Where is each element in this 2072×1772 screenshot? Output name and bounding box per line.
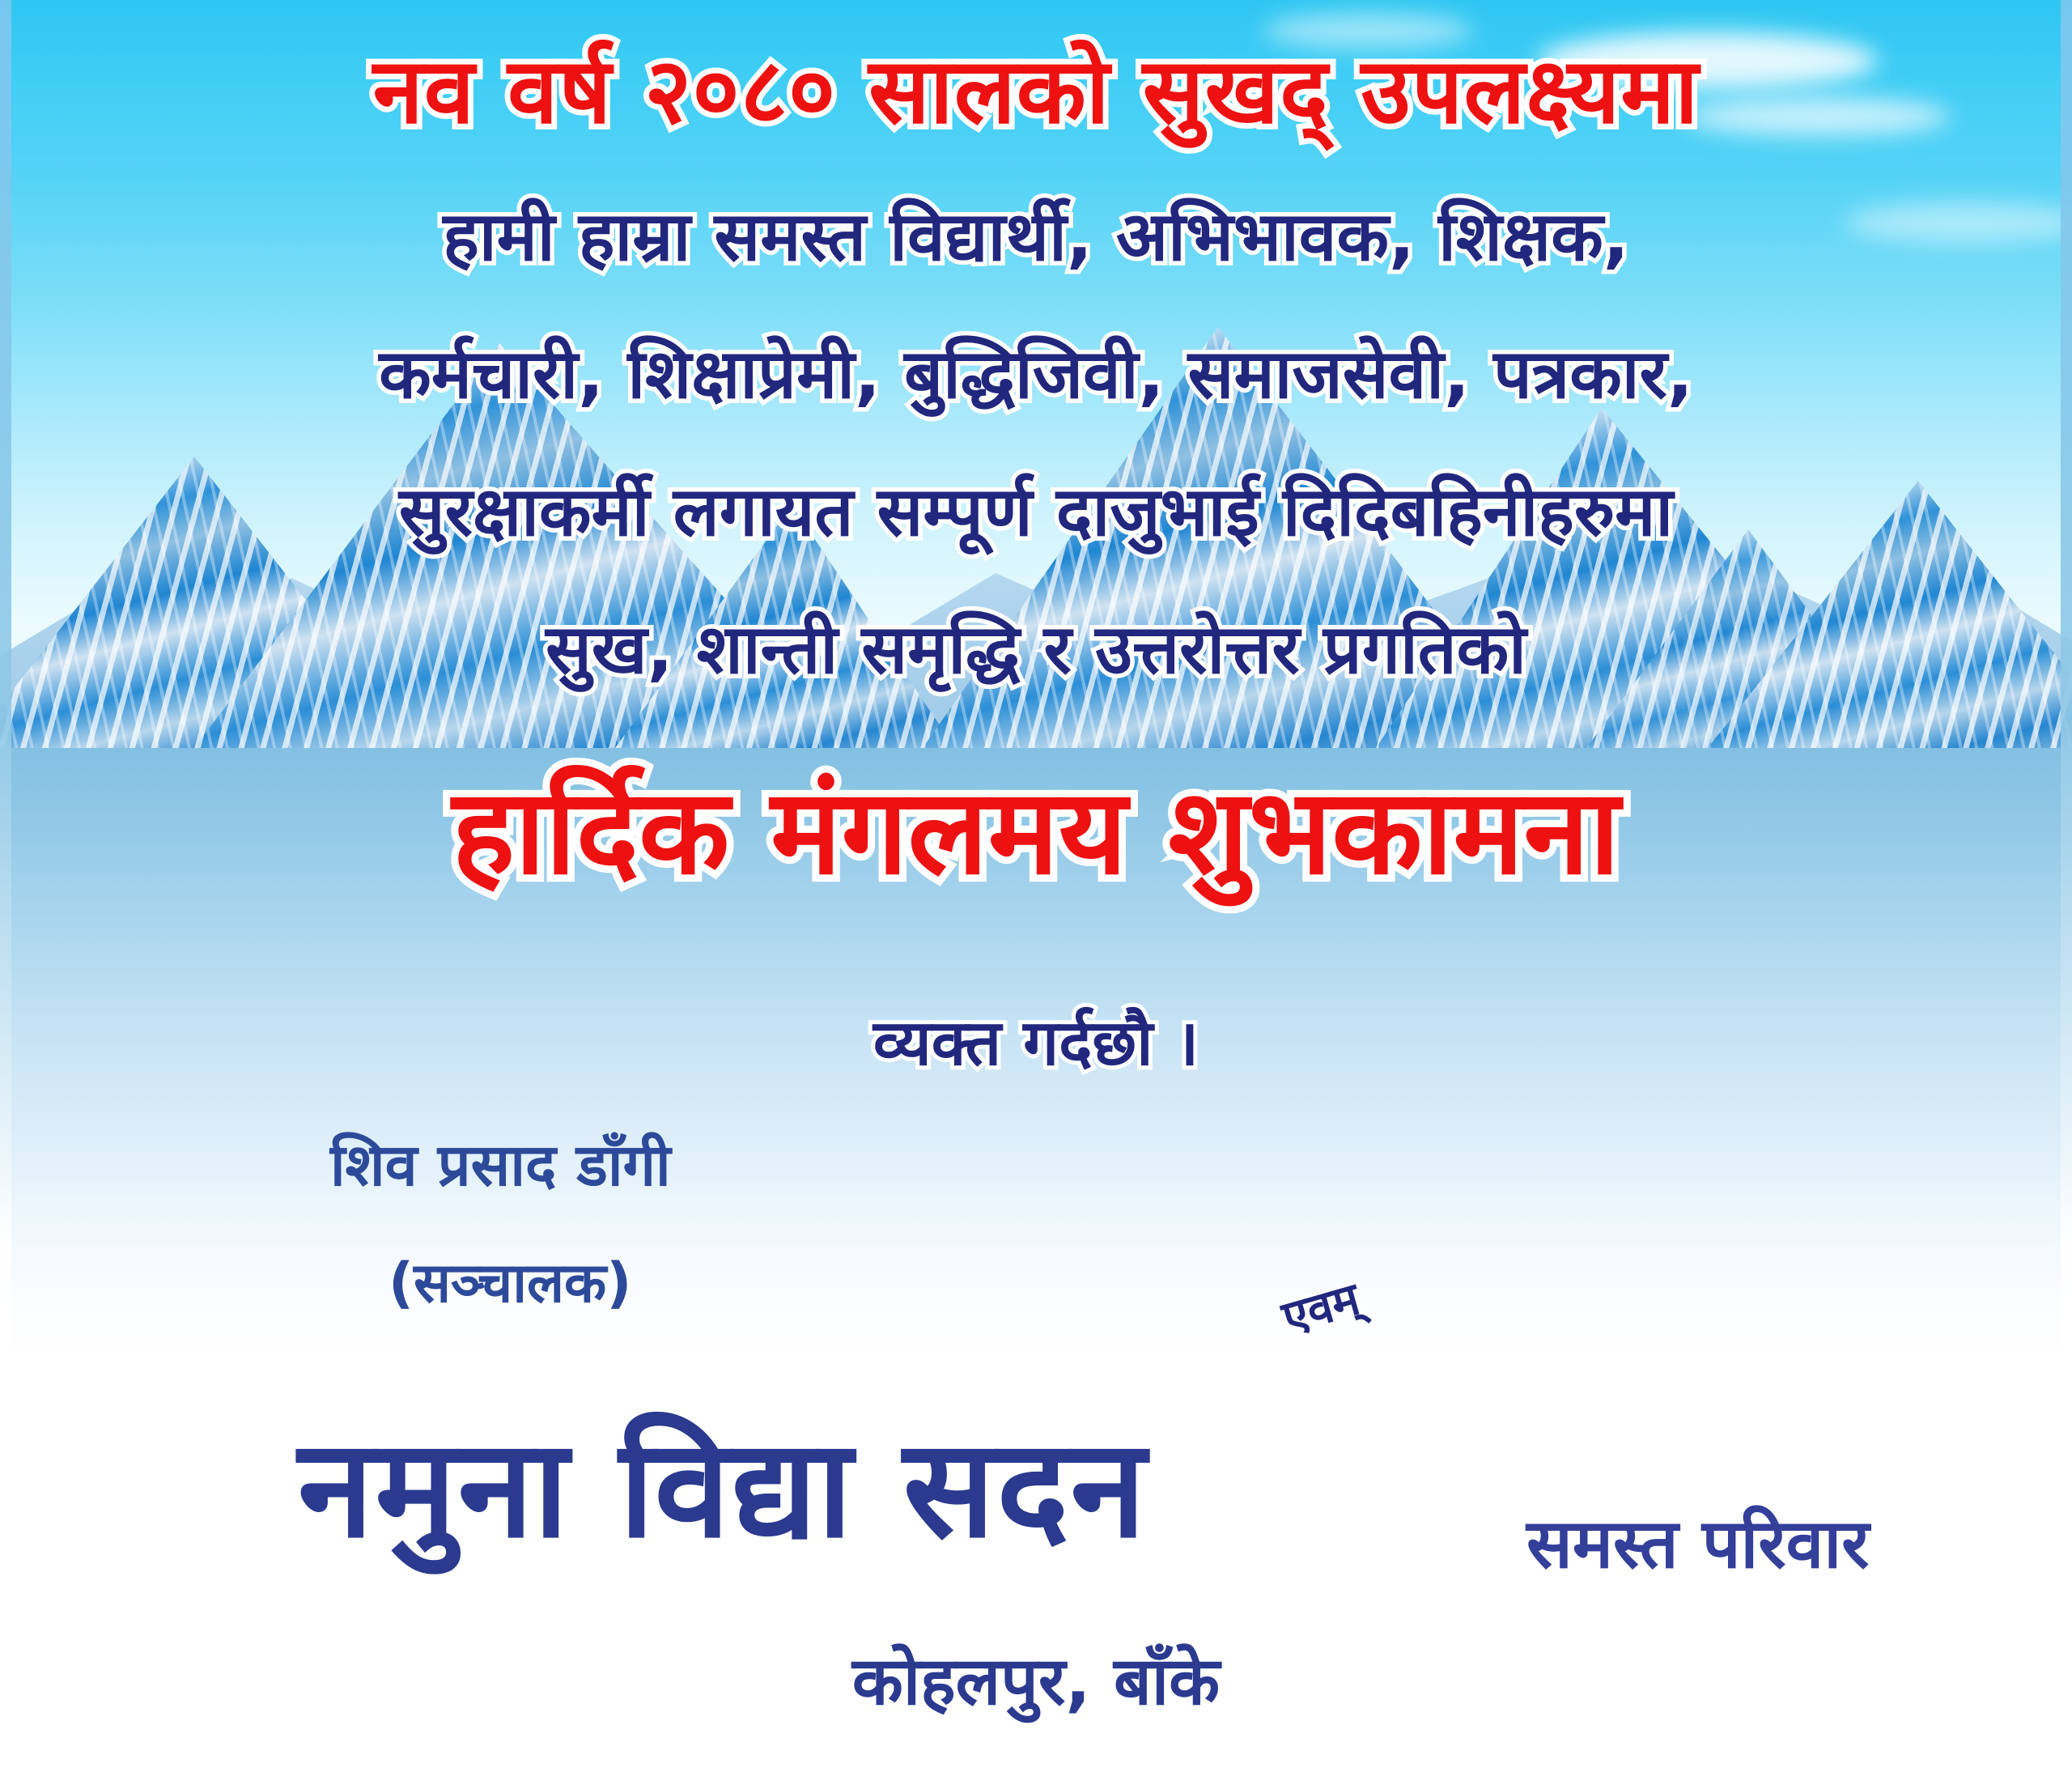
organization-name: नमुना विद्या सदन	[298, 1391, 1148, 1576]
text-layer: नव वर्ष २०८० सालको सुखद् उपलक्ष्यमा हामी…	[0, 0, 2072, 1772]
greeting-poster: नव वर्ष २०८० सालको सुखद् उपलक्ष्यमा हामी…	[0, 0, 2072, 1772]
body-line-1: हामी हाम्रा समस्त विद्यार्थी, अभिभावक, श…	[0, 201, 2072, 272]
organization-address: कोहलपुर, बाँके	[0, 1634, 2072, 1724]
poster-title: नव वर्ष २०८० सालको सुखद् उपलक्ष्यमा	[0, 42, 2072, 142]
organization-family-label: समस्त परिवार	[1526, 1494, 1869, 1587]
closing-phrase: व्यक्त गर्दछौ ।	[0, 997, 2072, 1083]
body-line-3: सुरक्षाकर्मी लगायत सम्पूर्ण दाजुभाई दिदि…	[0, 476, 2072, 547]
body-line-2: कर्मचारी, शिक्षाप्रेमी, बुद्धिजिवी, समाज…	[0, 338, 2072, 410]
signatory-role: (सञ्चालक)	[388, 1243, 631, 1318]
conjunction-evam: एवम्	[1275, 1267, 1366, 1347]
main-greeting-headline: हार्दिक मंगलमय शुभकामना	[0, 771, 2072, 894]
body-line-4: सुख, शान्ती समृद्धि र उत्तरोत्तर प्रगतिक…	[0, 614, 2072, 685]
signatory-name: शिव प्रसाद डाँगी	[330, 1124, 671, 1203]
